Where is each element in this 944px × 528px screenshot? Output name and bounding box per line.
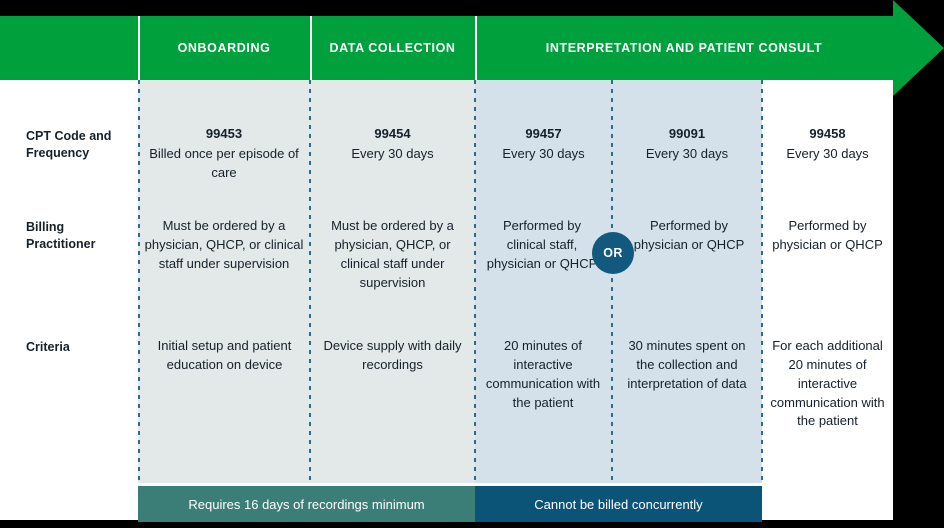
phase-label-interpretation-and-patient-consult: INTERPRETATION AND PATIENT CONSULT (475, 16, 893, 80)
cpt-frequency-99454: Every 30 days (314, 145, 471, 164)
footer-note-concurrent-billing: Cannot be billed concurrently (475, 486, 762, 522)
cpt-frequency-99453: Billed once per episode of care (142, 145, 306, 183)
footer-note-recordings-minimum: Requires 16 days of recordings minimum (138, 486, 475, 522)
column-divider-4 (611, 80, 613, 483)
cell-practitioner-99454: Must be ordered by a physician, QHCP, or… (314, 217, 471, 292)
cpt-code-value-99457: 99457 (479, 125, 608, 144)
cpt-frequency-99458: Every 30 days (766, 145, 889, 164)
or-badge: OR (592, 232, 634, 274)
infographic-root: ONBOARDING DATA COLLECTION INTERPRETATIO… (0, 0, 944, 528)
arrow-head-icon (893, 0, 944, 96)
cell-criteria-99454: Device supply with daily recordings (316, 337, 469, 375)
column-divider-1 (138, 80, 140, 483)
column-divider-2 (309, 80, 311, 483)
cell-practitioner-99457: Performed by clinical staff, physician o… (483, 217, 601, 274)
phase-label-data-collection: DATA COLLECTION (310, 16, 475, 80)
column-divider-5 (761, 80, 763, 483)
column-divider-3 (474, 80, 476, 483)
cell-criteria-99453: Initial setup and patient education on d… (147, 337, 302, 375)
cell-criteria-99458: For each additional 20 minutes of intera… (768, 337, 887, 431)
cell-code-99091: 99091 Every 30 days (616, 125, 758, 164)
cell-practitioner-99453: Must be ordered by a physician, QHCP, or… (142, 217, 306, 274)
cell-code-99458: 99458 Every 30 days (766, 125, 889, 164)
cell-code-99457: 99457 Every 30 days (479, 125, 608, 164)
cell-code-99453: 99453 Billed once per episode of care (142, 125, 306, 183)
cpt-frequency-99091: Every 30 days (616, 145, 758, 164)
row-label-billing-practitioner: Billing Practitioner (26, 219, 134, 253)
cell-criteria-99091: 30 minutes spent on the collection and i… (622, 337, 752, 394)
cpt-code-value-99454: 99454 (314, 125, 471, 144)
cell-practitioner-99458: Performed by physician or QHCP (766, 217, 889, 255)
cell-code-99454: 99454 Every 30 days (314, 125, 471, 164)
cpt-code-value-99091: 99091 (616, 125, 758, 144)
phase-label-onboarding: ONBOARDING (138, 16, 310, 80)
cpt-code-value-99458: 99458 (766, 125, 889, 144)
cell-practitioner-99091: Performed by physician or QHCP (628, 217, 750, 255)
cpt-frequency-99457: Every 30 days (479, 145, 608, 164)
cpt-code-value-99453: 99453 (142, 125, 306, 144)
cell-criteria-99457: 20 minutes of interactive communication … (481, 337, 605, 412)
row-label-cpt-code-and-frequency: CPT Code and Frequency (26, 128, 134, 162)
row-label-criteria: Criteria (26, 339, 134, 356)
